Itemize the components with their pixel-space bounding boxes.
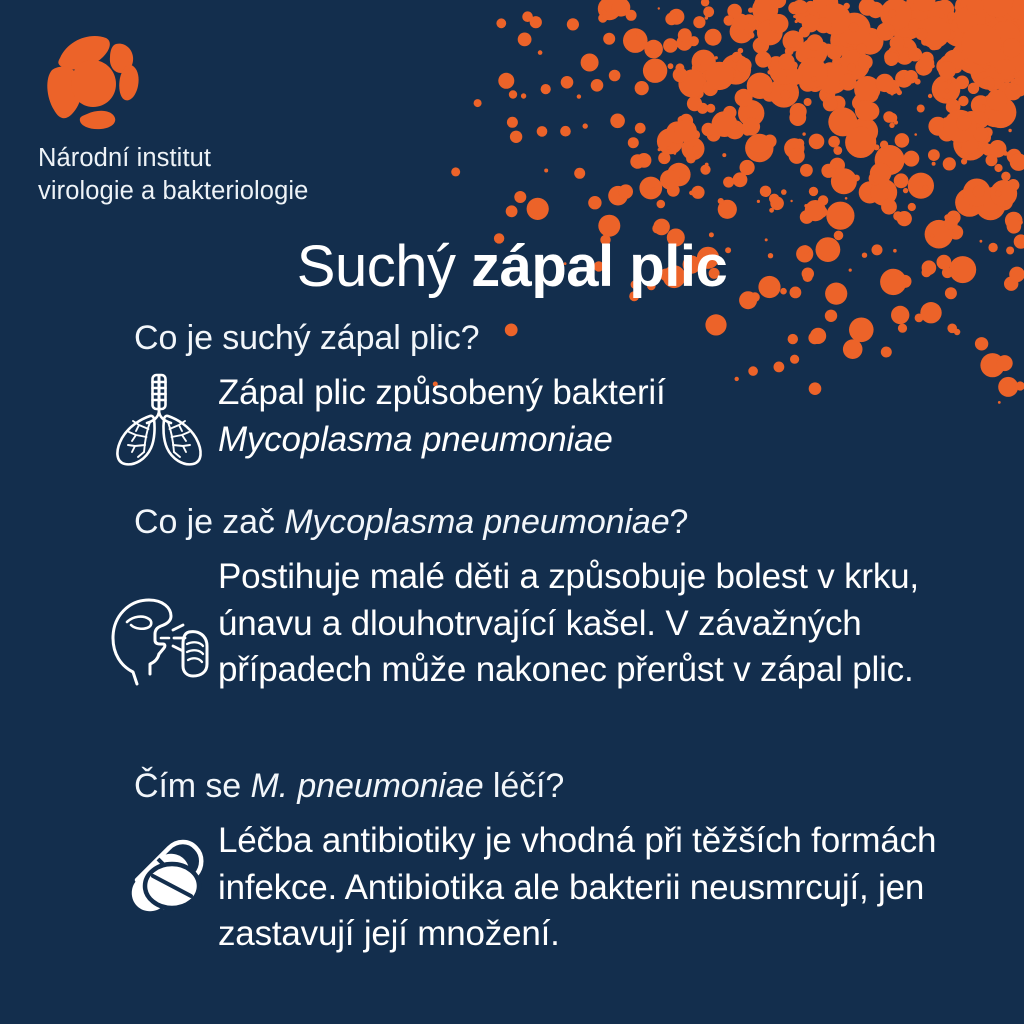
infographic-poster: Národní institut virologie a bakteriolog… — [0, 0, 1024, 1024]
brand-logo-block: Národní institut virologie a bakteriolog… — [38, 22, 458, 207]
coughing-person-icon — [100, 552, 218, 736]
qa-section-what-is-dry-pneumonia: Co je suchý zápal plic? — [0, 318, 1024, 470]
answer-line-2-italic: Mycoplasma pneumoniae — [218, 420, 613, 459]
question-2-suffix: ? — [670, 503, 689, 541]
institute-circular-cells-logo-icon — [38, 22, 146, 130]
question-3-prefix: Čím se — [134, 767, 250, 805]
page-title-bold: zápal plic — [471, 234, 727, 299]
question-3-suffix: léčí? — [484, 767, 565, 805]
question-3-italic: M. pneumoniae — [250, 767, 483, 805]
page-title: Suchý zápal plic — [0, 238, 1024, 296]
answer-text-1: Zápal plic způsobený bakterií Mycoplasma… — [218, 368, 666, 463]
answer-row-1: Zápal plic způsobený bakterií Mycoplasma… — [0, 368, 1024, 470]
question-2-prefix: Co je zač — [134, 503, 284, 541]
page-title-light: Suchý — [297, 234, 471, 299]
answer-row-3: Léčba antibiotiky je vhodná při těžších … — [0, 816, 1024, 958]
qa-section-how-is-it-treated: Čím se M. pneumoniae léčí? Lé — [0, 766, 1024, 958]
question-label-1: Co je suchý zápal plic? — [0, 318, 1024, 358]
qa-section-what-is-mycoplasma: Co je zač Mycoplasma pneumoniae? — [0, 502, 1024, 736]
question-2-italic: Mycoplasma pneumoniae — [284, 503, 669, 541]
answer-text-2: Postihuje malé děti a způsobuje bolest v… — [218, 552, 988, 694]
question-label-3: Čím se M. pneumoniae léčí? — [0, 766, 1024, 806]
brand-name: Národní institut virologie a bakteriolog… — [38, 142, 458, 207]
answer-line-1: Zápal plic způsobený bakterií — [218, 373, 666, 412]
answer-row-2: Postihuje malé děti a způsobuje bolest v… — [0, 552, 1024, 736]
question-label-2: Co je zač Mycoplasma pneumoniae? — [0, 502, 1024, 542]
answer-text-3: Léčba antibiotiky je vhodná při těžších … — [218, 816, 988, 958]
pills-icon — [100, 816, 218, 948]
lungs-icon — [100, 370, 218, 470]
